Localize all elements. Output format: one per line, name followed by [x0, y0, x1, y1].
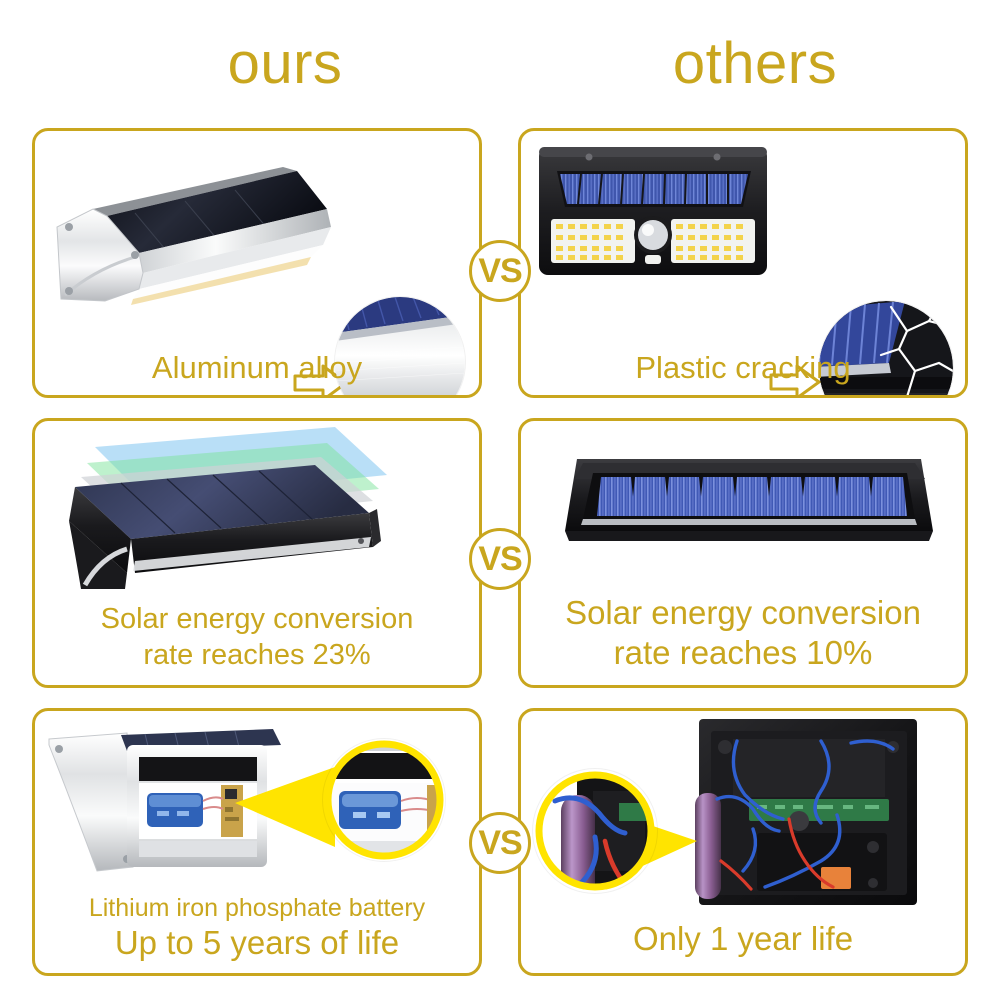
flat-panel-svg: [521, 421, 968, 571]
caption-line-1: Lithium iron phosphate battery: [35, 893, 479, 923]
caption-line-2: rate reaches 23%: [35, 637, 479, 673]
panel-ours-battery[interactable]: Lithium iron phosphate battery Up to 5 y…: [32, 708, 482, 976]
vs-badge-conversion: VS: [469, 528, 531, 590]
flat-blue-solar-panel-illustration: [521, 421, 965, 571]
caption-ours-material: Aluminum alloy: [35, 349, 479, 387]
panel-others-material[interactable]: Plastic cracking: [518, 128, 968, 398]
caption-others-battery: Only 1 year life: [521, 919, 965, 959]
panel-others-conversion[interactable]: Solar energy conversion rate reaches 10%: [518, 418, 968, 688]
magnifier-18650-battery: [533, 769, 657, 893]
caption-ours-battery: Lithium iron phosphate battery Up to 5 y…: [35, 893, 479, 963]
caption-line-2: rate reaches 10%: [521, 633, 965, 673]
caption-ours-conversion: Solar energy conversion rate reaches 23%: [35, 601, 479, 673]
panel-others-battery[interactable]: Only 1 year life: [518, 708, 968, 976]
caption-line: Aluminum alloy: [35, 349, 479, 387]
caption-line-1: Only 1 year life: [521, 919, 965, 959]
caption-line-1: Solar energy conversion: [521, 593, 965, 633]
plastic-light-svg: [521, 131, 968, 331]
panel-ours-material[interactable]: Aluminum alloy: [32, 128, 482, 398]
vs-badge-battery: VS: [469, 812, 531, 874]
comparison-infographic: ours others: [0, 0, 1000, 1000]
panel-grid: Aluminum alloy: [0, 0, 1000, 1000]
magnifier-lifepo4-battery: [323, 739, 445, 861]
panel-ours-conversion[interactable]: Solar energy conversion rate reaches 23%: [32, 418, 482, 688]
caption-line: Plastic cracking: [521, 349, 965, 387]
layered-solar-panel-light-illustration: [35, 421, 479, 601]
caption-line-1: Solar energy conversion: [35, 601, 479, 637]
caption-line-2: Up to 5 years of life: [35, 923, 479, 963]
caption-others-conversion: Solar energy conversion rate reaches 10%: [521, 593, 965, 673]
caption-others-material: Plastic cracking: [521, 349, 965, 387]
plastic-solar-light-illustration: [521, 131, 965, 331]
vs-badge-material: VS: [469, 240, 531, 302]
layered-panel-svg: [35, 421, 482, 601]
